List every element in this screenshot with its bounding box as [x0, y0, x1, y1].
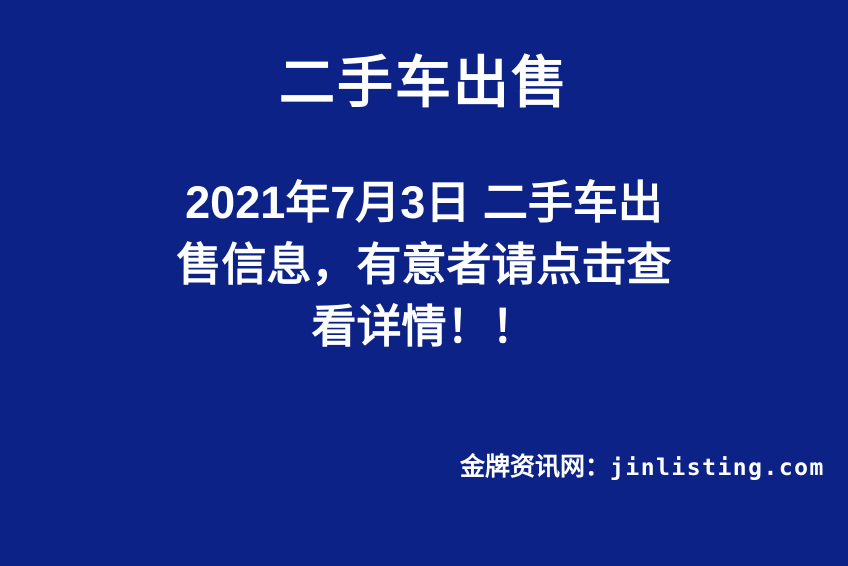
- poster-watermark: 金牌资讯网：jinlisting.com: [460, 447, 840, 483]
- poster-body-line-1: 2021年7月3日 二手车出: [124, 172, 724, 234]
- poster-body-line-3: 看详情！！: [124, 296, 724, 358]
- promo-poster: 二手车出售 2021年7月3日 二手车出 售信息，有意者请点击查 看详情！！ 金…: [0, 0, 848, 566]
- poster-body: 2021年7月3日 二手车出 售信息，有意者请点击查 看详情！！: [124, 172, 724, 358]
- watermark-site-label: 金牌资讯网：: [460, 453, 610, 481]
- watermark-domain: jinlisting.com: [610, 455, 825, 481]
- poster-title: 二手车出售: [0, 52, 848, 114]
- poster-title-text: 二手车出售: [279, 52, 569, 114]
- poster-body-line-2: 售信息，有意者请点击查: [124, 234, 724, 296]
